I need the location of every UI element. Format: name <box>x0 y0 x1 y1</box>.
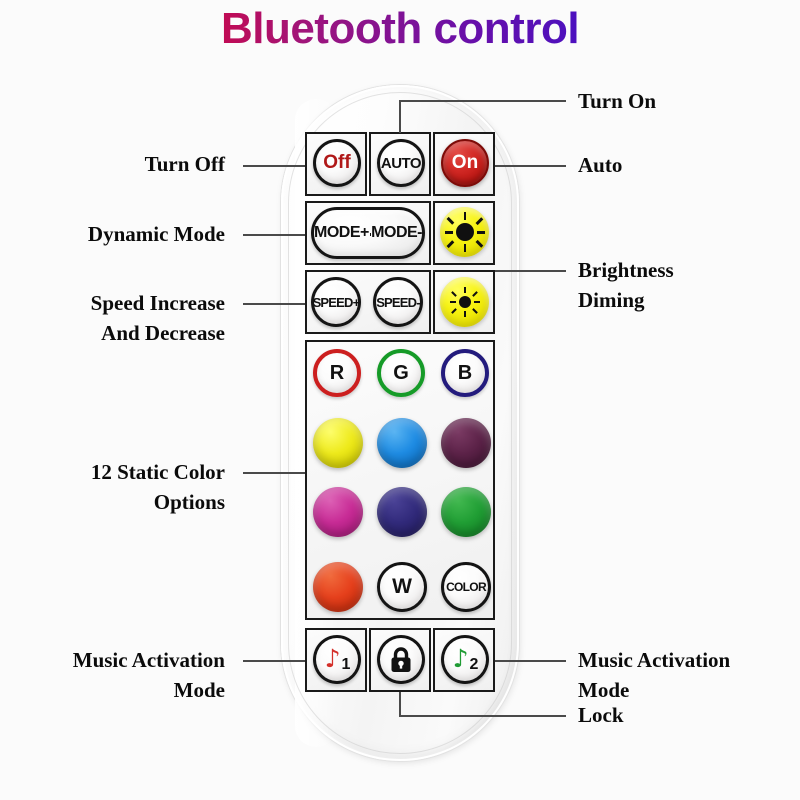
color-light-blue-button[interactable] <box>377 418 427 468</box>
color-r-label: R <box>330 362 344 385</box>
leader-music-1 <box>243 660 305 662</box>
color-yellow-button[interactable] <box>313 418 363 468</box>
leader-brightness-diming <box>495 270 566 272</box>
leader-turn-on-vertical <box>399 100 401 133</box>
label-speed-increase-decrease: Speed Increase And Decrease <box>20 288 225 348</box>
speed-up-label: SPEED+ <box>313 295 360 310</box>
auto-button-label: AUTO <box>381 155 421 172</box>
label-music-activation-mode-right: Music Activation Mode <box>578 645 798 705</box>
label-turn-off: Turn Off <box>60 149 225 179</box>
leader-auto <box>495 165 566 167</box>
leader-turn-on-horizontal <box>399 100 566 102</box>
color-orange-red-button[interactable] <box>313 562 363 612</box>
music-note-icon: ♪ <box>453 646 469 671</box>
label-static-color-options: 12 Static Color Options <box>25 457 225 517</box>
label-lock: Lock <box>578 700 793 730</box>
leader-turn-off <box>243 165 305 167</box>
music-mode-2-label: 2 <box>470 656 479 674</box>
mode-plus-label: MODE+ <box>314 224 369 242</box>
infographic-canvas: Bluetooth control Off AUTO On MODE+ MODE… <box>0 0 800 800</box>
mode-minus-label: MODE- <box>371 224 422 242</box>
leader-static-colors <box>243 472 305 474</box>
color-b-button[interactable]: B <box>441 349 489 397</box>
leader-speed <box>243 303 305 305</box>
color-g-label: G <box>393 362 409 385</box>
off-button-label: Off <box>323 152 350 174</box>
color-green-button[interactable] <box>441 487 491 537</box>
sun-small-icon <box>450 287 480 317</box>
color-picker-button[interactable]: COLOR <box>441 562 491 612</box>
music-mode-1-button[interactable]: ♪ 1 <box>313 635 361 684</box>
color-white-button[interactable]: W <box>377 562 427 612</box>
color-dark-purple-button[interactable] <box>441 418 491 468</box>
music-mode-2-button[interactable]: ♪ 2 <box>441 635 489 684</box>
label-brightness-diming: Brightness Diming <box>578 255 793 315</box>
speed-down-button[interactable]: SPEED- <box>373 277 423 327</box>
on-button-label: On <box>452 152 478 174</box>
brightness-down-button[interactable] <box>440 277 489 327</box>
music-mode-1-label: 1 <box>342 656 351 674</box>
leader-lock-horizontal <box>399 715 566 717</box>
label-dynamic-mode: Dynamic Mode <box>20 219 225 249</box>
color-white-label: W <box>392 575 412 599</box>
leader-dynamic-mode <box>243 234 305 236</box>
label-turn-on: Turn On <box>578 86 793 116</box>
on-button[interactable]: On <box>441 139 489 187</box>
leader-lock-vertical <box>399 692 401 717</box>
leader-music-2 <box>495 660 566 662</box>
auto-button[interactable]: AUTO <box>377 139 425 187</box>
label-music-activation-mode-left: Music Activation Mode <box>18 645 225 705</box>
mode-button[interactable]: MODE+ MODE- <box>311 207 425 259</box>
speed-up-button[interactable]: SPEED+ <box>311 277 361 327</box>
lock-icon <box>388 646 414 674</box>
brightness-up-button[interactable] <box>440 207 489 257</box>
lock-button[interactable] <box>377 635 425 684</box>
color-g-button[interactable]: G <box>377 349 425 397</box>
color-indigo-button[interactable] <box>377 487 427 537</box>
color-magenta-button[interactable] <box>313 487 363 537</box>
sun-large-icon <box>445 212 485 252</box>
color-picker-label: COLOR <box>446 580 486 594</box>
label-auto: Auto <box>578 150 793 180</box>
off-button[interactable]: Off <box>313 139 361 187</box>
speed-down-label: SPEED- <box>376 295 420 310</box>
color-b-label: B <box>458 362 472 385</box>
music-note-icon: ♪ <box>325 646 341 671</box>
page-title: Bluetooth control <box>0 4 800 54</box>
color-r-button[interactable]: R <box>313 349 361 397</box>
